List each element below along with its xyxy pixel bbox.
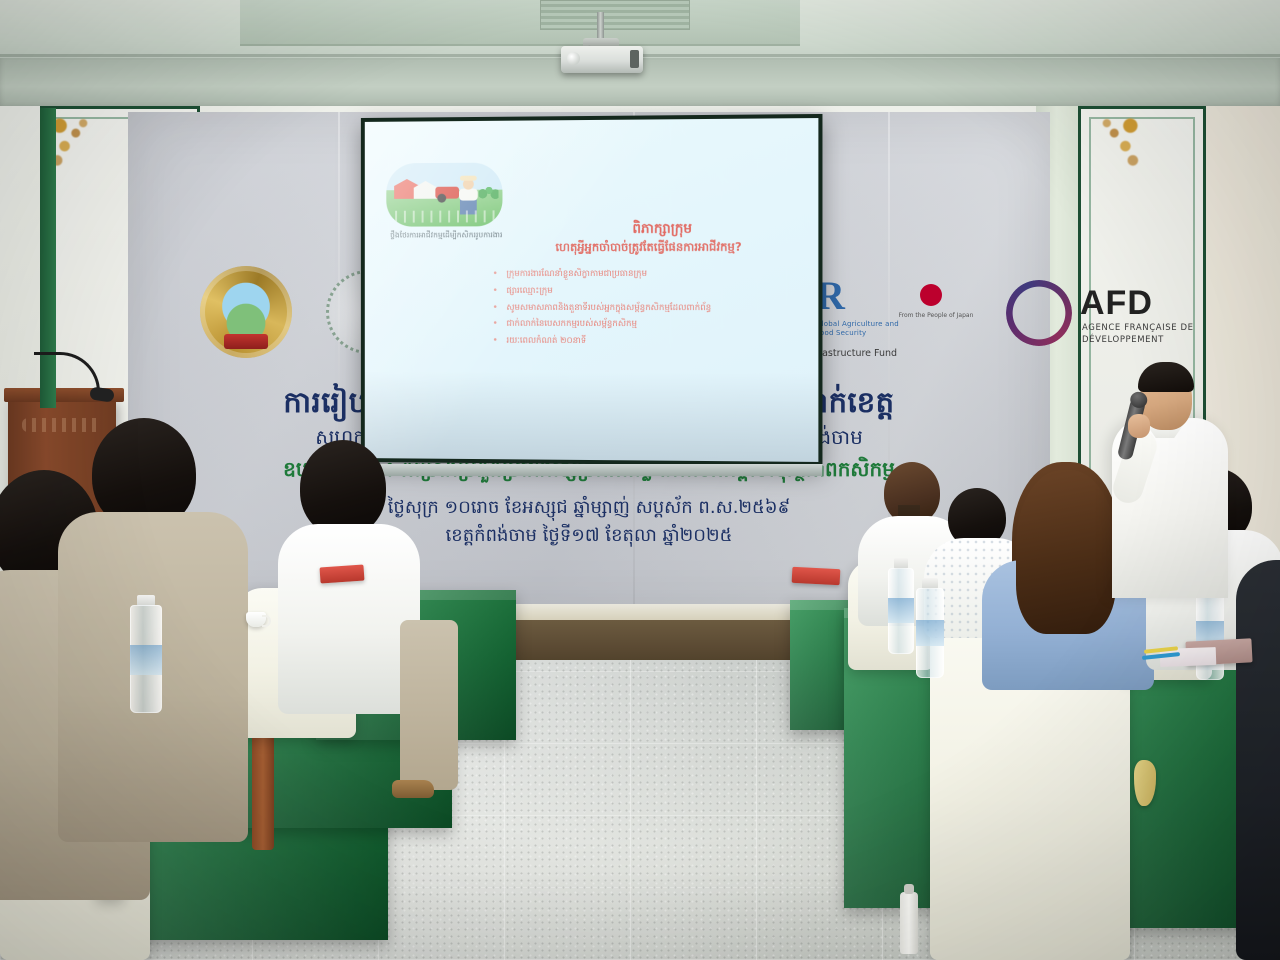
afd-ring-icon [1006, 280, 1072, 346]
japan-flag-disc-icon [920, 284, 942, 306]
afd-wordmark: AFD [1080, 284, 1153, 323]
slide-bullet: សូមសមាសភាពនិងតួនាទីរបស់អ្នកក្នុងសម្ព័ន្ធ… [491, 299, 809, 316]
screen-shadow [365, 371, 819, 462]
farmer-shirt-icon [459, 189, 478, 201]
bottle-label [130, 645, 162, 676]
japan-caption-label: From the People of Japan [898, 312, 974, 320]
coffee-cup [246, 612, 266, 627]
water-bottle [888, 558, 914, 654]
slide-bullet-list: ក្រុមការងារណែនាំខ្លួនសិក្ខាកាមជាប្រធានក្… [491, 266, 809, 351]
thermos [900, 892, 918, 954]
japan-aid-logo: From the People of Japan [898, 284, 974, 344]
slide-bullet: ក្រុមការងារណែនាំខ្លួនសិក្ខាកាមជាប្រធានក្… [491, 266, 809, 283]
gafsp-fund-label: Infrastructure Fund [806, 348, 926, 359]
bottle-label [888, 598, 914, 623]
water-bottle [130, 595, 162, 713]
red-folder [792, 567, 841, 585]
screen-bottom-bar [361, 464, 823, 476]
tractor-icon [435, 187, 459, 199]
afd-logo: AFD AGENCE FRANÇAISE DE DÉVELOPPEMENT [1006, 274, 1196, 358]
farmer-hat-icon [460, 176, 477, 181]
shoe [392, 780, 434, 798]
long-hair-front [1016, 470, 1116, 634]
afd-tagline: AGENCE FRANÇAISE DE DÉVELOPPEMENT [1082, 322, 1196, 347]
ceiling-vent [540, 0, 690, 30]
crops-icon [479, 181, 499, 203]
conference-room-photo: R Global Agriculture and Food Security I… [0, 0, 1280, 960]
person-torso [278, 524, 420, 714]
ceiling-recess [240, 0, 800, 46]
slide-bullet: ផ្សារឈ្មោះក្រុម [491, 283, 809, 300]
slide-bullet: ជាក់លាក់នៃបេសកកម្មរបស់សម្ព័ន្ធកសិកម្ម [491, 316, 809, 333]
ministry-of-agriculture-emblem-icon [200, 266, 292, 358]
slide-title: ពិភាក្សាក្រុម [512, 219, 814, 238]
gafsp-logo: R Global Agriculture and Food Security I… [816, 272, 902, 358]
projected-slide: ថ្លឹងថែរការអាជីវកម្មដើម្បីកសិកររូបការងារ… [365, 118, 819, 462]
podium-carving [22, 418, 102, 432]
projection-screen: ថ្លឹងថែរការអាជីវកម្មដើម្បីកសិកររូបការងារ… [361, 114, 823, 466]
slide-subtitle: ហេតុអ្វីអ្នកចាំបាច់ត្រូវតែធ្វើផែនការអាជី… [481, 239, 819, 255]
farm-illustration-icon [386, 163, 502, 227]
red-folder [319, 564, 364, 583]
slide-bullet: រយៈពេលកំណត់ ២០នាទី [491, 333, 809, 351]
gold-ornament-icon [1082, 112, 1144, 174]
field-rows [386, 210, 502, 222]
gafsp-sub-label: Global Agriculture and Food Security [816, 320, 904, 338]
person-torso [1236, 560, 1280, 960]
ceiling-projector [561, 46, 643, 73]
person-head [300, 440, 386, 536]
bottle-label [916, 620, 944, 646]
speaker-hand [1128, 414, 1150, 438]
person-legs [400, 620, 458, 790]
house-icon [414, 181, 438, 199]
water-bottle [916, 578, 944, 678]
